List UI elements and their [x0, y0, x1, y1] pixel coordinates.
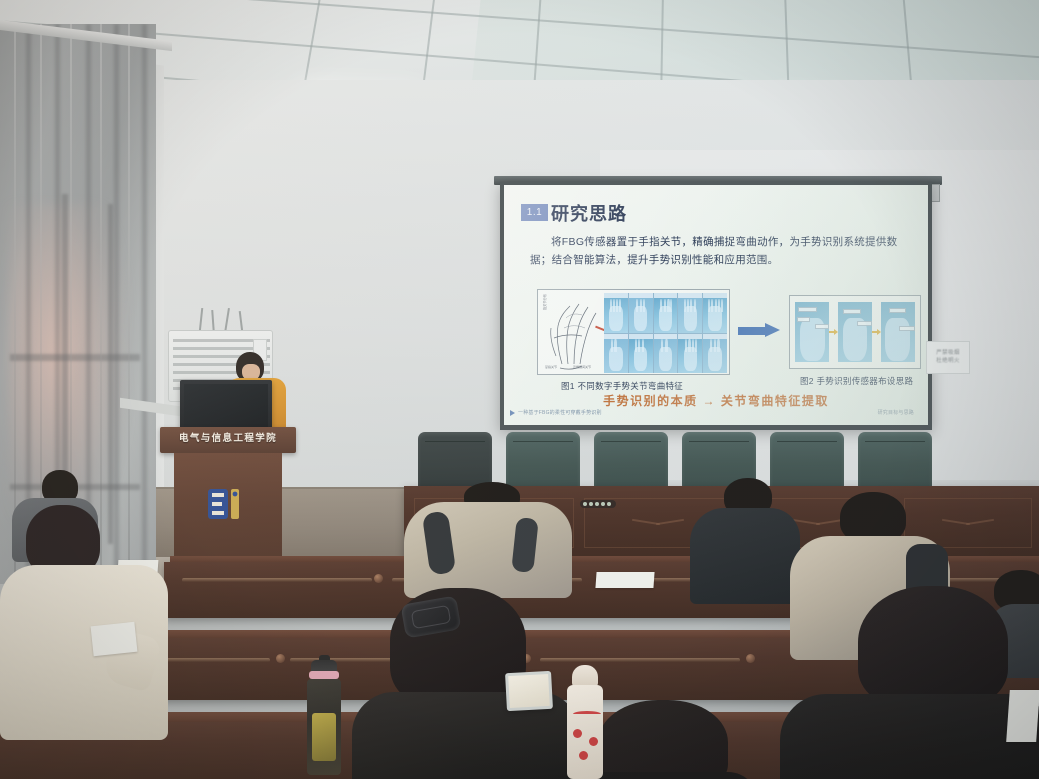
wall-sign-line-1: 严禁吸烟 [936, 350, 960, 357]
slide-title: 研究思路 [551, 200, 627, 226]
gesture-cell [654, 334, 678, 374]
figure-2-container [789, 295, 921, 369]
slide-transition-arrow [738, 323, 780, 338]
auditorium-seat[interactable] [594, 432, 668, 490]
hand-anatomy-diagram: 指关节分布 掌指关节 近端指间关节 [542, 294, 600, 372]
bottle-graphic [312, 713, 336, 761]
window-mullion-shadow [108, 204, 113, 544]
handout-paper[interactable] [595, 572, 654, 588]
gesture-cell [654, 293, 678, 333]
wall-sign-line-2: 杜绝明火 [936, 358, 960, 365]
venue-banner-text: 电气与信息工程学院 [160, 430, 296, 444]
gesture-cell [678, 334, 702, 374]
slide-section-badge: 1.1 [521, 204, 548, 221]
auditorium-seat[interactable] [858, 432, 932, 490]
presentation-slide: 1.1 研究思路 将FBG传感器置于手指关节，精确捕捉弯曲动作，为手势识别系统提… [504, 185, 928, 425]
tablet-screen [508, 674, 550, 708]
flow-arrow-icon [829, 328, 837, 337]
bottle-ring [309, 671, 339, 679]
sensor-layout-image [881, 302, 915, 362]
thermos-neck-stripe [573, 711, 601, 717]
svg-text:掌指关节: 掌指关节 [545, 364, 557, 369]
slide-body-text: 将FBG传感器置于手指关节，精确捕捉弯曲动作，为手势识别系统提供数据；结合智能算… [530, 233, 915, 269]
gesture-cell [604, 293, 628, 333]
figure-1-caption: 图1 不同数字手势关节弯曲特征 [561, 380, 683, 392]
lecture-hall-photo: 1.1 研究思路 将FBG传感器置于手指关节，精确捕捉弯曲动作，为手势识别系统提… [0, 0, 1039, 779]
bottle-sleeve [307, 679, 341, 775]
gesture-cell [703, 293, 727, 333]
footer-triangle-icon [510, 410, 515, 416]
slide-conclusion-text: 手势识别的本质 → 关节弯曲特征提取 [504, 392, 928, 409]
desk-control-buttons[interactable] [580, 500, 616, 508]
gesture-cell [629, 293, 653, 333]
gesture-photo-grid [604, 293, 727, 373]
tablet-device[interactable] [505, 671, 553, 711]
figure-1-container: 指关节分布 掌指关节 近端指间关节 [537, 289, 730, 375]
slide-footer-left: 一种基于FBG的柔性可穿戴手势识别 [518, 409, 602, 416]
gesture-cell [629, 334, 653, 374]
thermos-cap[interactable] [572, 665, 598, 687]
gesture-cell [678, 293, 702, 333]
ei-logo-emblem [206, 487, 246, 521]
presenter-laptop[interactable] [180, 380, 272, 432]
slide-footer-right: 研究目标与思路 [878, 409, 914, 416]
thermos-body [567, 685, 603, 779]
gesture-cell [604, 334, 628, 374]
svg-text:近端指间关节: 近端指间关节 [573, 364, 591, 369]
audience-person [0, 505, 170, 735]
handout-paper[interactable] [91, 622, 138, 656]
figure-2-caption: 图2 手势识别传感器布设思路 [800, 375, 913, 387]
flow-arrow-icon [872, 328, 880, 337]
wall-notice-sign: 严禁吸烟 杜绝明火 [926, 341, 970, 374]
audience-person [404, 482, 572, 594]
svg-text:指关节分布: 指关节分布 [542, 294, 547, 310]
water-bottle[interactable] [304, 660, 344, 779]
audience-person [780, 586, 1039, 779]
sensor-layout-image [795, 302, 829, 362]
laptop-screen [184, 384, 268, 428]
audience-person [690, 478, 800, 598]
handout-paper[interactable] [1006, 690, 1039, 742]
sensor-layout-image [838, 302, 872, 362]
gesture-cell [703, 334, 727, 374]
projection-screen: 1.1 研究思路 将FBG传感器置于手指关节，精确捕捉弯曲动作，为手势识别系统提… [500, 182, 932, 430]
thermos-flask[interactable] [565, 665, 605, 779]
